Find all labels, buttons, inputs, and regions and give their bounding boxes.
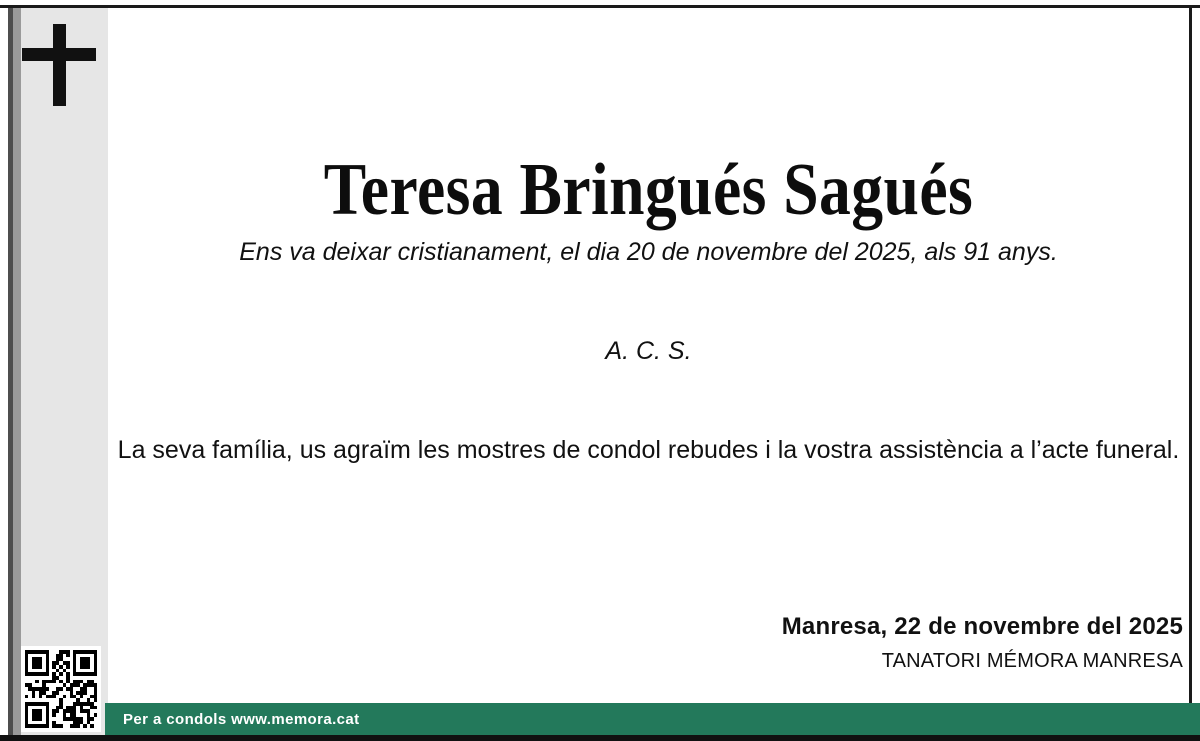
sidebar-panel — [21, 8, 108, 735]
christian-cross-icon — [22, 24, 96, 106]
qr-code-icon[interactable] — [21, 646, 101, 732]
notice-body: Ens va deixar cristianament, el dia 20 d… — [108, 234, 1189, 468]
obituary-notice-card: Per a condols www.memora.cat Teresa Brin… — [0, 0, 1200, 741]
passing-statement: Ens va deixar cristianament, el dia 20 d… — [108, 234, 1189, 270]
frame-right-border — [1189, 5, 1192, 741]
condolences-footer-label: Per a condols www.memora.cat — [105, 711, 360, 728]
deceased-name: Teresa Bringués Sagués — [184, 150, 1114, 230]
family-thanks-statement: La seva família, us agraïm les mostres d… — [108, 432, 1189, 468]
condolences-footer-bar[interactable]: Per a condols www.memora.cat — [105, 703, 1200, 735]
left-rail-gray-stripe — [13, 8, 21, 735]
place-and-date: Manresa, 22 de novembre del 2025 — [782, 612, 1183, 642]
acs-abbreviation: A. C. S. — [108, 333, 1189, 369]
signoff-block: Manresa, 22 de novembre del 2025 TANATOR… — [782, 612, 1183, 674]
cross-vertical-bar — [53, 24, 66, 106]
notice-content: Teresa Bringués Sagués Ens va deixar cri… — [108, 8, 1189, 703]
cross-horizontal-bar — [22, 48, 96, 61]
funeral-home-name: TANATORI MÉMORA MANRESA — [782, 648, 1183, 674]
qr-code-grid — [25, 650, 97, 728]
frame-bottom-border — [0, 735, 1200, 741]
